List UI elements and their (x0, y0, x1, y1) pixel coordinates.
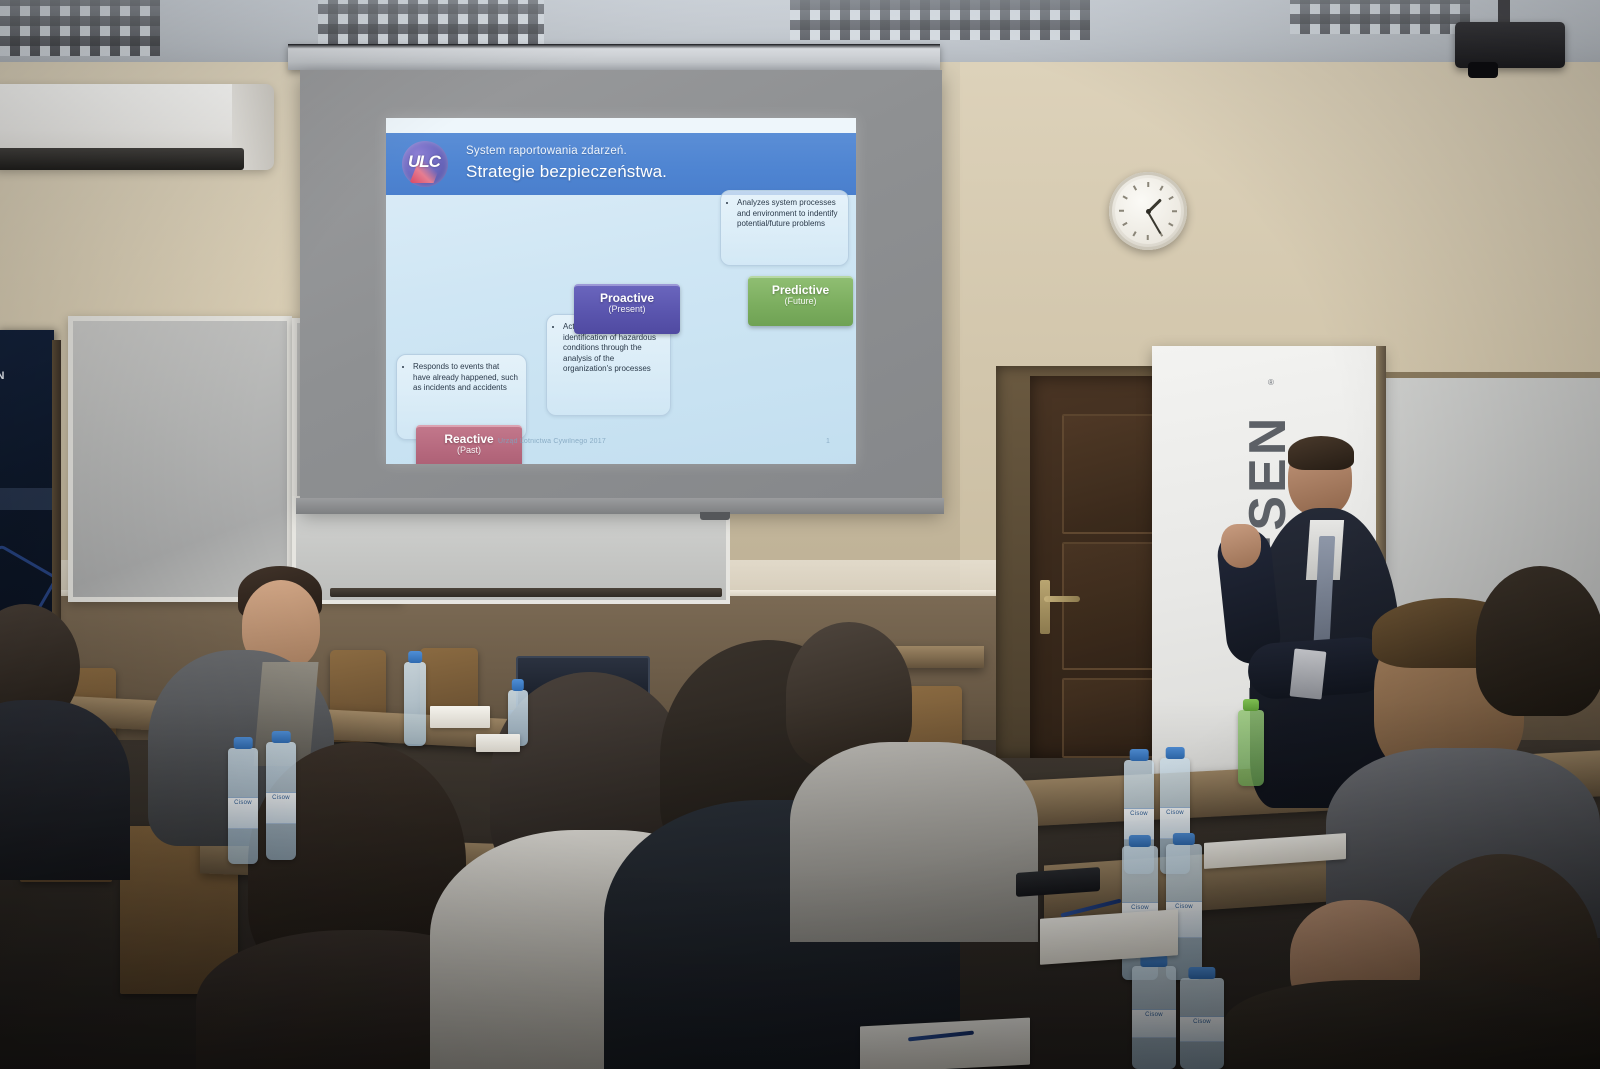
logo-text: ULC (408, 152, 442, 176)
bottle-cap (1173, 833, 1195, 845)
bottle-cap (1130, 749, 1149, 761)
air-conditioner-vent (0, 148, 244, 170)
audience-head (1476, 566, 1600, 716)
projection-screen-housing (288, 44, 940, 70)
projector-lens-icon (1468, 62, 1498, 78)
proactive-label: Proactive (574, 292, 680, 305)
audience-shoulders (1224, 980, 1600, 1069)
bottle-cap (512, 679, 524, 691)
banner-registered-mark: ® (1268, 378, 1274, 387)
bottle-cap (408, 651, 422, 663)
slide-top-margin (386, 118, 856, 133)
slide-footer-source: Urząd Lotnictwa Cywilnego 2017 (498, 438, 606, 445)
presenter-hair-icon (1288, 436, 1354, 470)
clock-minute-hand (1147, 212, 1161, 235)
whiteboard-left (68, 316, 292, 602)
predictive-callout-text: Analyzes system processes and environmen… (737, 198, 840, 230)
category-box-predictive: Predictive (Future) (748, 276, 853, 326)
door-panel-middle (1062, 542, 1158, 670)
notepad[interactable] (860, 1018, 1030, 1069)
slide-subtitle: System raportowania zdarzeń. (466, 145, 627, 157)
door-handle-plate[interactable] (1040, 580, 1050, 634)
water-bottle[interactable]: Cisow (266, 742, 296, 860)
water-bottle[interactable]: Cisow (1180, 978, 1224, 1069)
bottle-cap (1166, 747, 1185, 759)
green-drink-bottle[interactable] (1238, 710, 1264, 786)
banner-left-line1: MASZYN (0, 370, 54, 382)
banner-left-band (0, 488, 54, 510)
door-panel-lower (1062, 678, 1158, 758)
predictive-label: Predictive (748, 284, 853, 297)
bottle-cap (1243, 699, 1259, 711)
bottle-cap (1188, 967, 1215, 979)
projection-screen-weight (700, 512, 730, 520)
reactive-callout-text: Responds to events that have already hap… (413, 362, 518, 394)
water-bottle[interactable]: Cisow (1132, 966, 1176, 1069)
banner-left-line3: AZOWSKIEJ (0, 404, 54, 410)
presentation-slide: ULC System raportowania zdarzeń. Strateg… (386, 118, 856, 464)
bottle-label: Cisow (1132, 1009, 1176, 1038)
paper-sheet[interactable] (430, 706, 490, 728)
bottle-cap (1129, 835, 1151, 847)
predictive-tense: (Future) (748, 297, 853, 307)
clock-face (1115, 178, 1181, 244)
bottle-cap (234, 737, 253, 749)
bottle-label: Cisow (266, 792, 296, 825)
predictive-callout: Analyzes system processes and environmen… (720, 190, 849, 266)
bottle-cap (272, 731, 291, 743)
slide-title: Strategie bezpieczeństwa. (466, 162, 667, 182)
presenter-lanyard (1290, 648, 1327, 699)
whiteboard-marker-ledge (330, 588, 722, 597)
bottle-label: Cisow (228, 797, 258, 829)
presenter-hand-icon (1221, 524, 1261, 568)
water-bottle[interactable] (404, 662, 426, 746)
water-bottle[interactable]: Cisow (228, 748, 258, 864)
slide-page-number: 1 (826, 438, 830, 445)
clock-center (1146, 209, 1151, 214)
banner-left-line2: TWA (0, 386, 54, 398)
wall-clock (1109, 172, 1187, 250)
reactive-tense: (Past) (416, 446, 522, 456)
proactive-tense: (Present) (574, 305, 680, 315)
door-handle-lever[interactable] (1044, 596, 1080, 602)
bottle-label: Cisow (1180, 1016, 1224, 1042)
photo-scene: MASZYN TWA AZOWSKIEJ ULC System raportow… (0, 0, 1600, 1069)
slide-header: ULC System raportowania zdarzeń. Strateg… (386, 133, 856, 195)
door-panel-upper (1062, 414, 1158, 534)
projection-screen-bottom-bar (296, 498, 944, 514)
audience-shoulders (790, 742, 1038, 942)
notepad[interactable] (1040, 909, 1178, 965)
category-box-proactive: Proactive (Present) (574, 284, 680, 334)
ulc-logo-icon: ULC (402, 141, 448, 187)
paper-sheet[interactable] (476, 734, 520, 752)
